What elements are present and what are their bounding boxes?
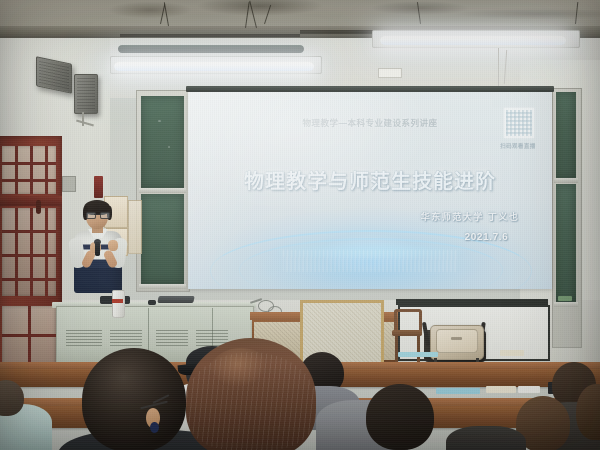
audience-head [576,384,600,440]
window-mullion [15,146,18,194]
slide-date: 2021.7.6 [465,232,509,243]
qr-code-pattern [506,110,532,136]
wall-speaker [74,74,98,114]
bag-flap [436,329,478,353]
blackboard-rail [554,302,578,307]
podium-vent [66,330,102,348]
blackboard-panel [556,92,576,178]
hair-highlight [208,348,274,402]
lecture-hall-photo: 物理教学—本科专业建设系列讲座 物理教学与师范生技能进阶 华东师范大学 丁义也 … [0,0,600,450]
wall-socket [62,176,76,192]
electrical-box [94,176,103,198]
hanging-cord [498,48,499,86]
desk-item-paper [500,350,524,356]
audience-shoulders [446,426,526,450]
window-mullion [2,334,56,337]
projection-screen: 物理教学—本科专业建设系列讲座 物理教学与师范生技能进阶 华东师范大学 丁义也 … [188,92,552,289]
chalk-mark [168,146,170,148]
fluorescent-light-right [380,36,566,45]
blackboard-rail [139,284,186,289]
audience-head [0,380,24,416]
door-rail [0,196,62,206]
glasses-lens [100,212,110,219]
ceiling-crack [120,34,300,37]
slide-title: 物理教学与师范生技能进阶 [188,165,552,194]
fluorescent-light-left [114,62,314,71]
window-mullion [30,146,33,194]
window-mullion [2,278,56,281]
projected-slide: 物理教学—本科专业建设系列讲座 物理教学与师范生技能进阶 华东师范大学 丁义也 … [188,92,552,289]
desk-item-box [518,386,540,393]
desk-item-paper [436,388,480,394]
slide-author: 华东师范大学 丁义也 [421,210,520,223]
blackboard-rail [139,188,186,193]
speaker-grill [77,78,95,110]
slide-header-text: 物理教学—本科专业建设系列讲座 [188,117,552,129]
earbud [150,422,159,433]
head-shape [0,380,24,416]
blackboard-rail [554,178,578,183]
slide-dot-texture [283,250,458,272]
audience-head-with-glasses [82,348,186,450]
presenter-glasses-icon [86,212,108,217]
thermos-bottle [112,290,125,318]
light-tube-off [118,45,304,53]
chalk-tray-object [558,296,572,301]
glasses-bridge [94,214,100,215]
desk-item-paper [486,386,516,393]
stool-leg [395,336,398,364]
chalk-mark [158,120,161,122]
speaker-grill [39,61,69,89]
blackboard-panel [141,96,184,188]
blackboard-panel [556,184,576,302]
stool-leg [417,336,420,364]
qr-code-icon [504,108,534,138]
thermos-label [112,299,123,303]
window-mullion [15,208,18,296]
window-mullion [2,179,56,182]
microphone[interactable] [95,242,100,256]
podium-vent [110,330,142,348]
podium-vent [156,330,188,348]
presenter-right-hand [108,240,118,251]
head-shape [366,384,434,450]
window-mullion [2,230,56,233]
window-mullion [2,162,56,165]
ceiling-label-tag [378,68,402,78]
podium-device [148,300,156,305]
bag-logo [451,337,462,340]
window-mullion [45,146,48,194]
head-shape [82,348,186,450]
door-handle[interactable] [36,200,41,214]
head-shape [576,384,600,440]
audience-head [366,384,434,450]
blackboard-panel [141,194,184,284]
wall-chart [128,200,142,254]
window-mullion [45,208,48,296]
window-mullion [30,208,33,296]
window-mullion [2,254,56,257]
laptop[interactable] [157,296,194,303]
desk-item-paper [398,352,438,357]
qr-caption: 扫码观看直播 [500,142,535,150]
